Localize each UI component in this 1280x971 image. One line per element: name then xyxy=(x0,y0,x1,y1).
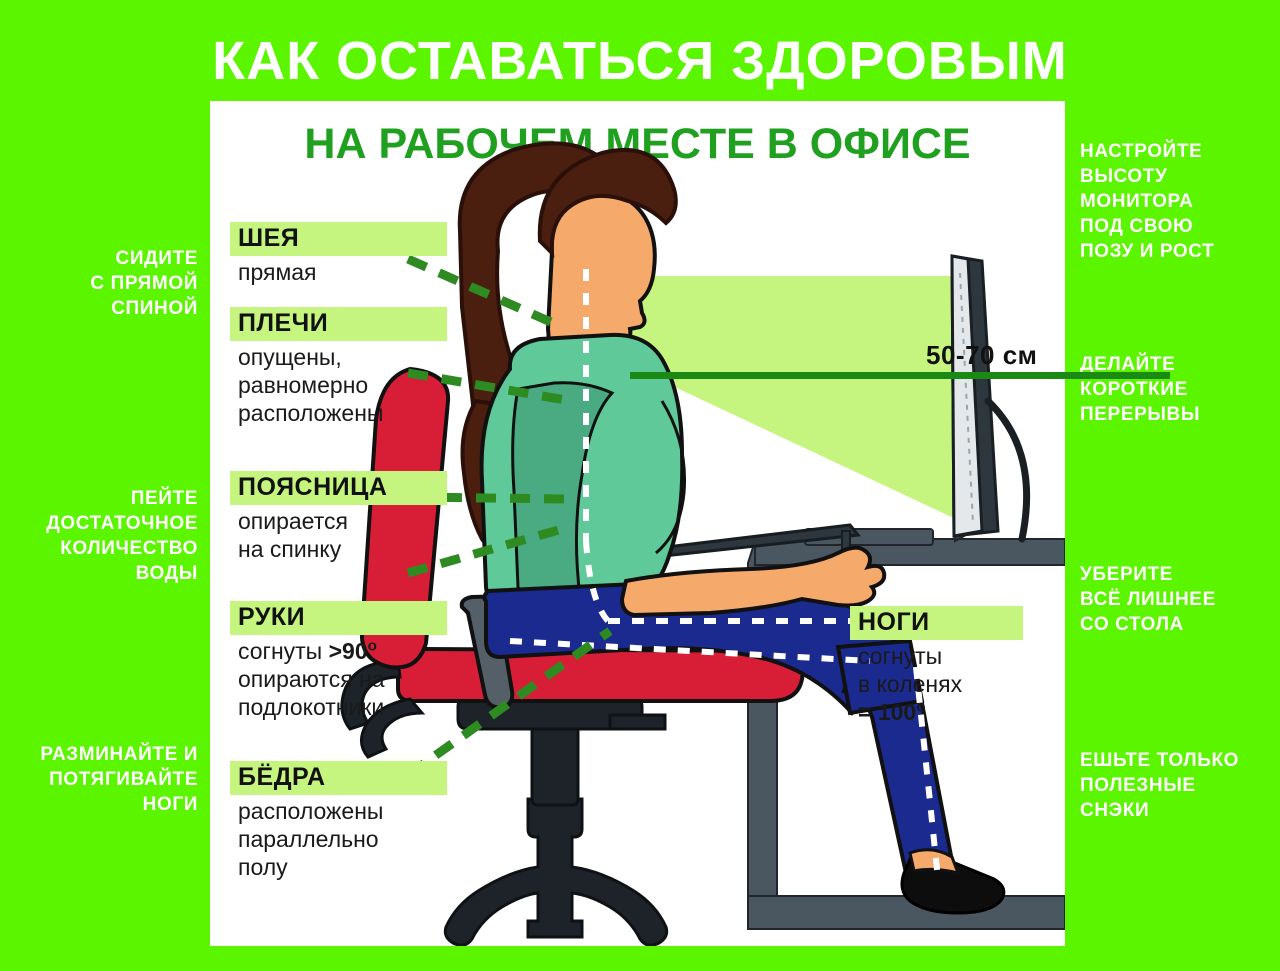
callout-hips-desc: расположены параллельно полу xyxy=(230,797,455,881)
callout-hips-tag: БЁДРА xyxy=(230,761,447,795)
side-note-healthy-snacks: ЕШЬТЕ ТОЛЬКО ПОЛЕЗНЫЕ СНЭКИ xyxy=(1080,748,1276,823)
callout-legs-angle: = 100 xyxy=(858,699,916,725)
side-note-monitor-height: НАСТРОЙТЕ ВЫСОТУ МОНИТОРА ПОД СВОЮ ПОЗУ … xyxy=(1080,139,1276,264)
callout-arms-desc-rest: опираются на подлокотники xyxy=(238,666,385,720)
callout-legs: НОГИ согнутыв коленях= 100o xyxy=(850,606,1025,726)
callout-arms-tag: РУКИ xyxy=(230,601,447,635)
callout-shoulders: ПЛЕЧИ опущены, равномерно расположены xyxy=(230,307,455,427)
callout-lower-back-desc: опирается на спинку xyxy=(230,507,455,563)
callout-hips: БЁДРА расположены параллельно полу xyxy=(230,761,455,881)
callout-shoulders-desc: опущены, равномерно расположены xyxy=(230,343,455,427)
callout-neck-desc: прямая xyxy=(230,258,445,286)
side-note-short-breaks: ДЕЛАЙТЕ КОРОТКИЕ ПЕРЕРЫВЫ xyxy=(1080,352,1276,427)
infographic-panel: НА РАБОЧЕМ МЕСТЕ В ОФИСЕ xyxy=(210,101,1065,946)
callout-neck: ШЕЯ прямая xyxy=(230,222,445,286)
page-title: КАК ОСТАВАТЬСЯ ЗДОРОВЫМ xyxy=(0,34,1280,88)
callout-neck-tag: ШЕЯ xyxy=(230,222,447,256)
callout-lower-back-tag: ПОЯСНИЦА xyxy=(230,471,447,505)
callout-legs-tag: НОГИ xyxy=(850,606,1023,640)
side-note-drink-water: ПЕЙТЕ ДОСТАТОЧНОЕ КОЛИЧЕСТВО ВОДЫ xyxy=(2,486,198,586)
callout-legs-degree: o xyxy=(916,698,925,715)
callout-arms-degree: o xyxy=(368,637,377,654)
callout-lower-back: ПОЯСНИЦА опирается на спинку xyxy=(230,471,455,563)
callout-arms-angle: >90 xyxy=(329,638,368,664)
viewing-distance-rule xyxy=(630,372,1170,379)
callout-legs-desc: согнутыв коленях= 100o xyxy=(850,642,1025,726)
callout-shoulders-tag: ПЛЕЧИ xyxy=(230,307,447,341)
side-note-clear-desk: УБЕРИТЕ ВСЁ ЛИШНЕЕ СО СТОЛА xyxy=(1080,562,1276,637)
callout-arms-desc-prefix: согнуты xyxy=(238,638,329,664)
callout-legs-line2: в коленях xyxy=(858,671,962,697)
callout-legs-line1: согнуты xyxy=(858,643,942,669)
callout-arms-desc: согнуты >90o опираются на подлокотники xyxy=(230,637,460,721)
callout-arms: РУКИ согнуты >90o опираются на подлокотн… xyxy=(230,601,460,721)
viewing-distance-label: 50-70 см xyxy=(926,340,1037,371)
side-note-stretch-legs: РАЗМИНАЙТЕ И ПОТЯГИВАЙТЕ НОГИ xyxy=(2,742,198,817)
side-note-straight-back: СИДИТЕ С ПРЯМОЙ СПИНОЙ xyxy=(2,246,198,321)
